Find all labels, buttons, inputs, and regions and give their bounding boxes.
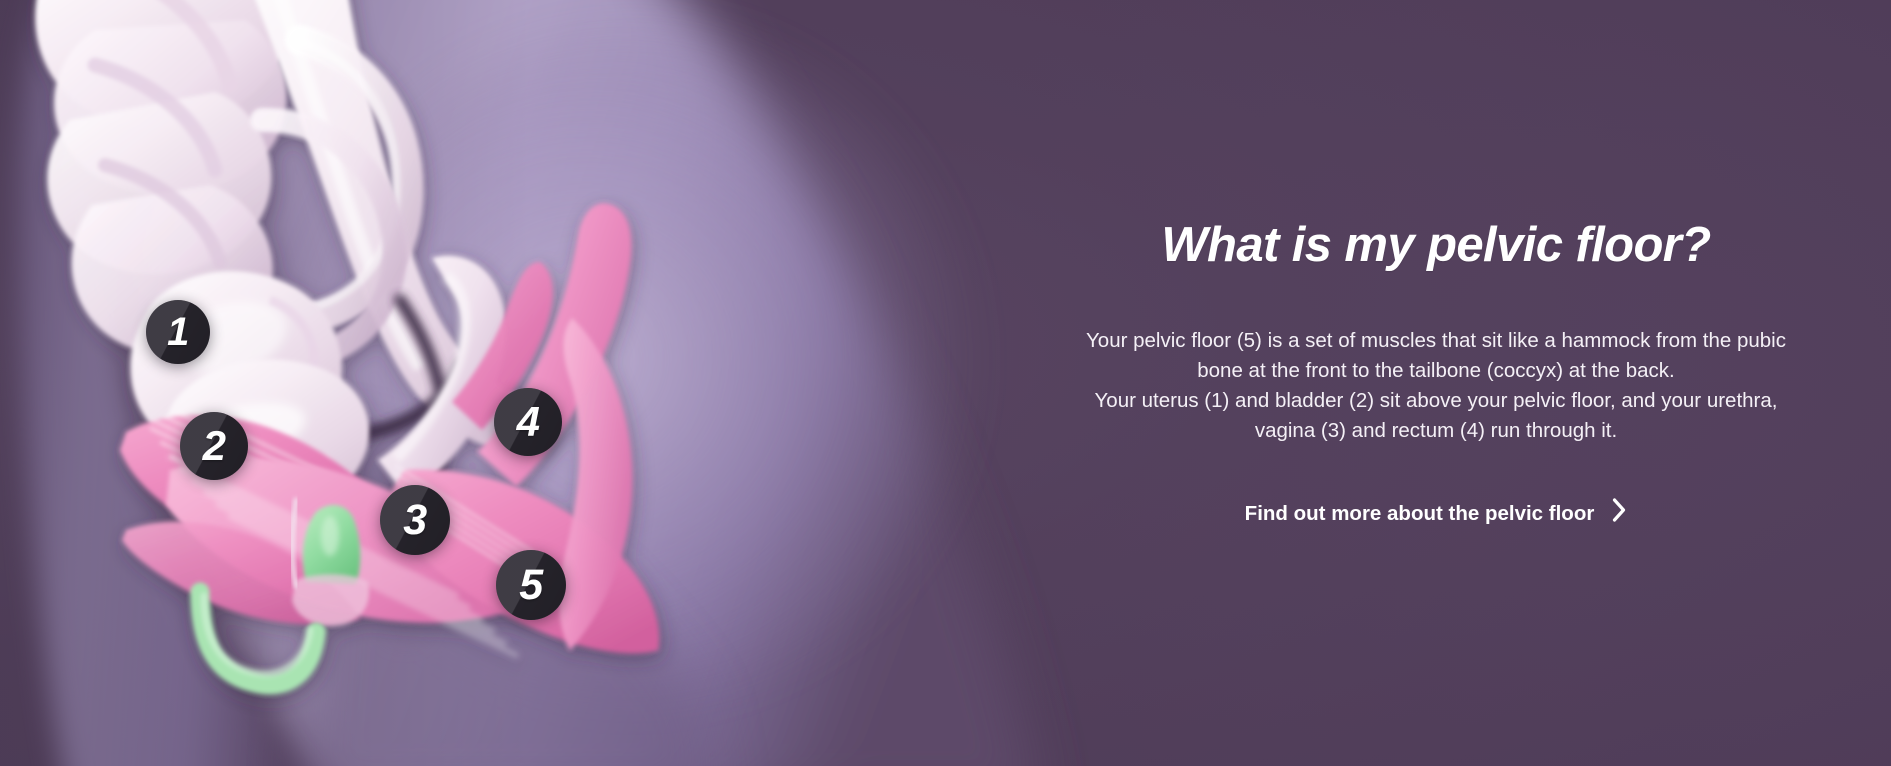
marker-number: 4 [517, 401, 540, 443]
hero-text-panel: What is my pelvic floor? Your pelvic flo… [1000, 0, 1872, 766]
pelvic-anatomy-illustration [0, 0, 760, 700]
anatomy-marker-1[interactable]: 1 [146, 300, 210, 364]
anatomy-marker-3[interactable]: 3 [380, 485, 450, 555]
find-out-more-label: Find out more about the pelvic floor [1245, 502, 1595, 525]
anatomy-marker-4[interactable]: 4 [494, 388, 562, 456]
hero-description: Your pelvic floor (5) is a set of muscle… [1066, 326, 1806, 447]
pelvic-floor-hero-section: 1 2 3 4 5 What is my pelvic floor? Your … [0, 0, 1891, 766]
description-paragraph-2: Your uterus (1) and bladder (2) sit abov… [1066, 386, 1806, 446]
page-title: What is my pelvic floor? [1161, 219, 1710, 272]
marker-number: 1 [167, 312, 189, 352]
chevron-right-icon [1612, 498, 1627, 522]
anatomy-marker-2[interactable]: 2 [180, 412, 248, 480]
description-paragraph-1: Your pelvic floor (5) is a set of muscle… [1066, 326, 1806, 386]
marker-number: 5 [519, 564, 542, 607]
find-out-more-link[interactable]: Find out more about the pelvic floor [1245, 498, 1628, 529]
anatomy-marker-5[interactable]: 5 [496, 550, 566, 620]
marker-number: 3 [403, 499, 426, 542]
marker-number: 2 [203, 425, 226, 467]
